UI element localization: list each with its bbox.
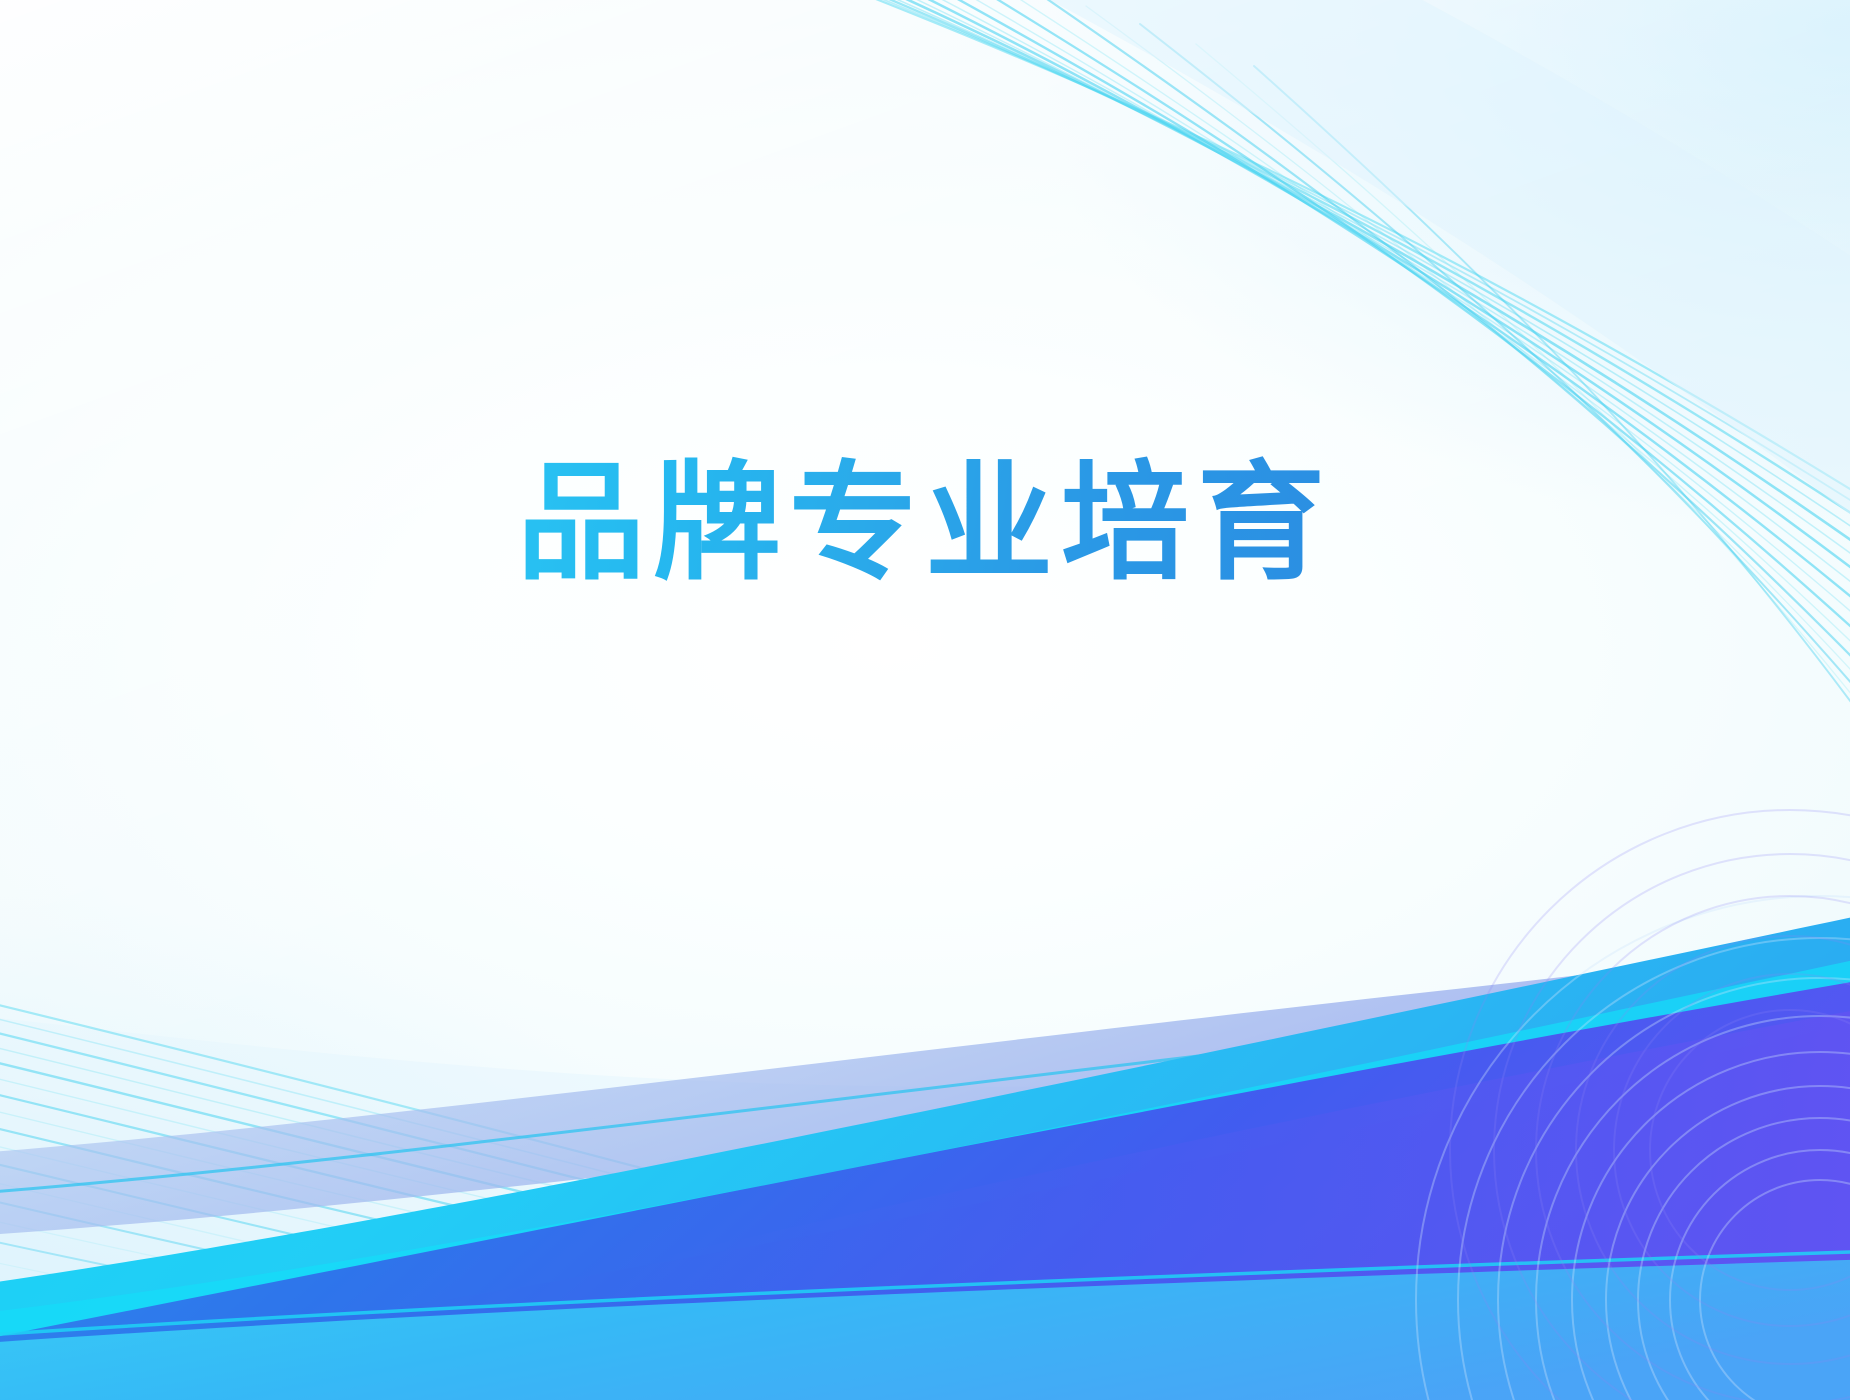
decorative-wave-layer <box>0 0 1850 1400</box>
slide-canvas: 品牌专业培育 <box>0 0 1850 1400</box>
title-block: 品牌专业培育 <box>0 455 1850 593</box>
page-title: 品牌专业培育 <box>517 455 1333 593</box>
top-right-arc-lines <box>560 0 1850 883</box>
